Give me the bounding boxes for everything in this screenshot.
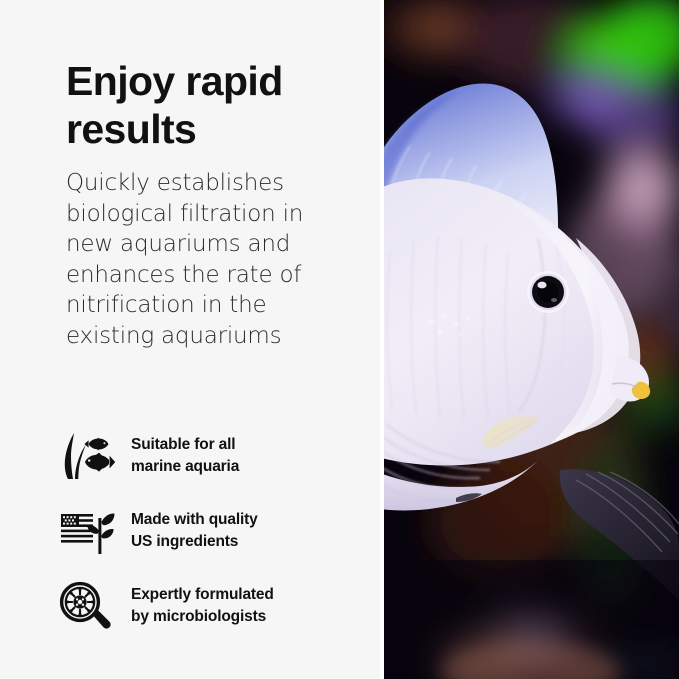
feature-item-microbiologists: Expertly formulated by microbiologists xyxy=(58,568,358,643)
panel-divider xyxy=(380,0,384,679)
feature-label: Expertly formulated by microbiologists xyxy=(131,584,274,627)
feature-item-us-ingredients: Made with quality US ingredients xyxy=(58,493,358,568)
seaweed-fish-icon xyxy=(58,430,118,482)
feature-list: Suitable for all marine aquaria xyxy=(58,418,358,643)
page-title: Enjoy rapid results xyxy=(66,58,336,154)
feature-item-marine-aquaria: Suitable for all marine aquaria xyxy=(58,418,358,493)
product-photo xyxy=(380,0,679,679)
feature-label: Suitable for all marine aquaria xyxy=(131,434,239,477)
product-feature-banner: Enjoy rapid results Quickly establishes … xyxy=(0,0,679,679)
us-flag-plant-icon xyxy=(58,505,118,557)
left-content-panel: Enjoy rapid results Quickly establishes … xyxy=(0,0,380,679)
feature-label: Made with quality US ingredients xyxy=(131,509,258,552)
description-text: Quickly establishes biological filtratio… xyxy=(66,168,318,351)
magnifier-microbe-icon xyxy=(58,580,118,632)
